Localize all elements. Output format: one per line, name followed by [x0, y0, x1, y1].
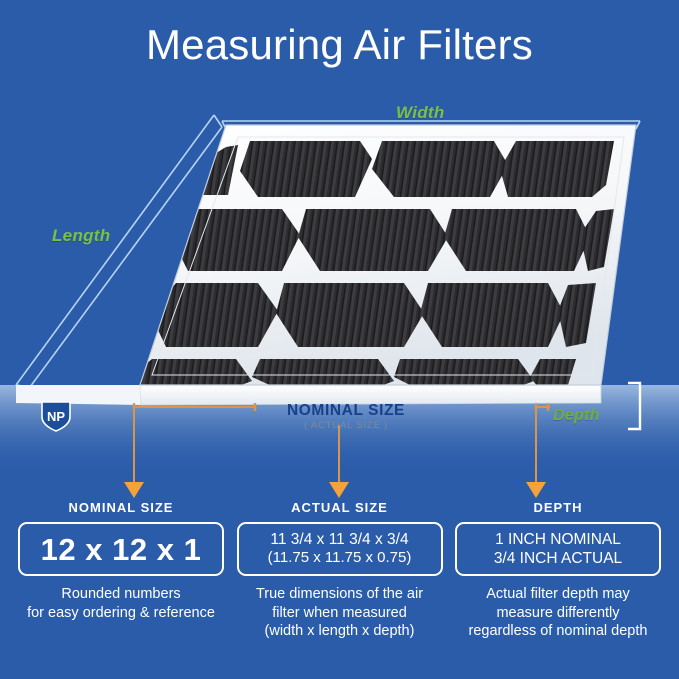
card-heading-depth: DEPTH [455, 500, 661, 515]
nominal-size-callout-title: NOMINAL SIZE [266, 402, 426, 420]
card-caption-nominal-line2: for easy ordering & reference [18, 604, 224, 623]
card-nominal-size: NOMINAL SIZE 12 x 12 x 1 Rounded numbers… [18, 500, 224, 641]
card-box-depth: 1 INCH NOMINAL 3/4 INCH ACTUAL [455, 522, 661, 576]
card-caption-actual-line1: True dimensions of the air [237, 585, 443, 604]
card-caption-nominal: Rounded numbers for easy ordering & refe… [18, 585, 224, 622]
card-caption-nominal-line1: Rounded numbers [18, 585, 224, 604]
np-logo-text: NP [47, 409, 65, 424]
summary-cards: NOMINAL SIZE 12 x 12 x 1 Rounded numbers… [0, 500, 679, 641]
card-caption-actual-line2: filter when measured [237, 604, 443, 623]
card-value-actual-line1: 11 3/4 x 11 3/4 x 3/4 [270, 530, 408, 549]
callout-arrowheads [124, 482, 546, 498]
card-depth: DEPTH 1 INCH NOMINAL 3/4 INCH ACTUAL Act… [455, 500, 661, 641]
card-caption-actual-line3: (width x length x depth) [237, 622, 443, 641]
card-heading-nominal: NOMINAL SIZE [18, 500, 224, 515]
card-caption-depth-line1: Actual filter depth may [455, 585, 661, 604]
card-value-actual-line2: (11.75 x 11.75 x 0.75) [268, 549, 412, 568]
page-title: Measuring Air Filters [0, 22, 679, 68]
card-box-actual: 11 3/4 x 11 3/4 x 3/4 (11.75 x 11.75 x 0… [237, 522, 443, 576]
label-length: Length [52, 226, 110, 246]
np-shield-logo: NP [40, 399, 72, 433]
card-heading-actual: ACTUAL SIZE [237, 500, 443, 515]
card-caption-depth-line2: measure differently [455, 604, 661, 623]
card-caption-actual: True dimensions of the air filter when m… [237, 585, 443, 641]
card-box-nominal: 12 x 12 x 1 [18, 522, 224, 576]
label-width: Width [396, 103, 445, 123]
infographic-page: Measuring Air Filters [0, 0, 679, 679]
label-depth: Depth [553, 407, 600, 425]
card-caption-depth: Actual filter depth may measure differen… [455, 585, 661, 641]
card-actual-size: ACTUAL SIZE 11 3/4 x 11 3/4 x 3/4 (11.75… [237, 500, 443, 641]
nominal-size-callout-subtitle: ( ACTUAL SIZE ) [266, 420, 426, 431]
card-caption-depth-line3: regardless of nominal depth [455, 622, 661, 641]
card-value-depth-line2: 3/4 INCH ACTUAL [494, 549, 622, 568]
card-value-nominal: 12 x 12 x 1 [41, 534, 202, 565]
card-value-depth-line1: 1 INCH NOMINAL [495, 530, 621, 549]
